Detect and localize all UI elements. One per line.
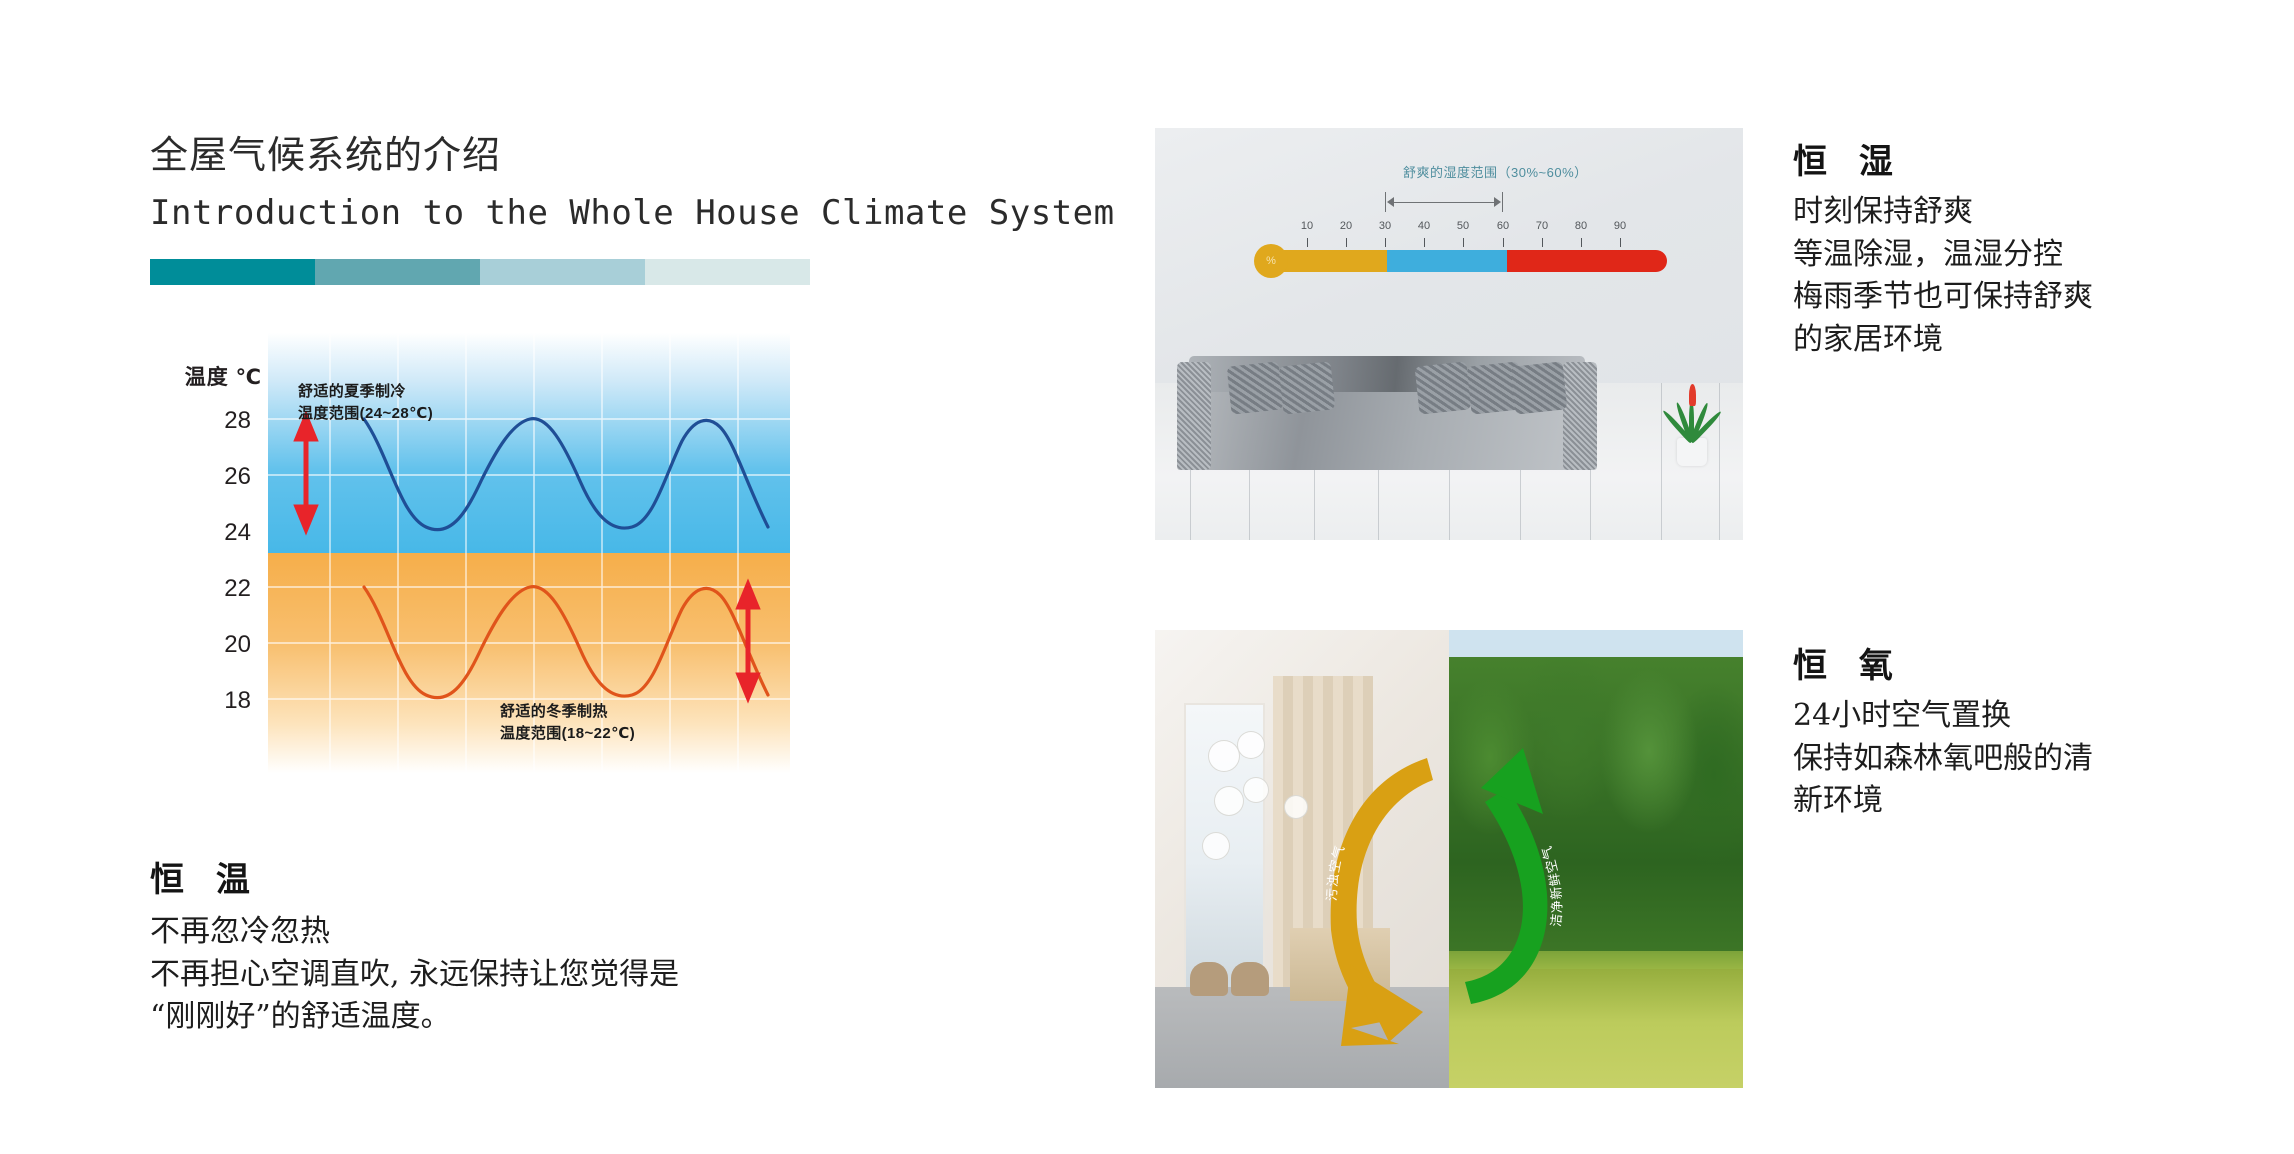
humidity-photo: 舒爽的湿度范围（30%~60%） 10 20 30 40 50 60 xyxy=(1155,128,1743,540)
y-tick-24: 24 xyxy=(171,519,251,547)
hengwen-heading: 恒 温 xyxy=(150,852,1050,901)
y-tick-18: 18 xyxy=(171,687,251,715)
sofa-cushion xyxy=(1279,361,1336,414)
hengshi-line-1: 时刻保持舒爽 xyxy=(1793,191,2263,234)
hengyang-line-1: 24小时空气置换 xyxy=(1793,695,2263,738)
hum-tick-label: 20 xyxy=(1340,220,1352,232)
summer-annotation-line1: 舒适的夏季制冷 xyxy=(298,381,433,403)
y-tick-28: 28 xyxy=(171,407,251,435)
chart-plot-area: 舒适的夏季制冷 温度范围(24~28℃) 舒适的冬季制热 温度范围(18~22℃… xyxy=(268,333,790,773)
left-column: 全屋气候系统的介绍 Introduction to the Whole Hous… xyxy=(150,130,1080,773)
section-hengyang: 恒 氧 24小时空气置换 保持如森林氧吧般的清 新环境 xyxy=(1793,638,2263,823)
hengwen-line-3: “刚刚好”的舒适温度。 xyxy=(150,996,1050,1039)
hengshi-line-4: 的家居环境 xyxy=(1793,319,2263,362)
hum-tick-label: 60 xyxy=(1497,220,1509,232)
humidity-bar xyxy=(1267,250,1667,272)
winter-annotation-line1: 舒适的冬季制热 xyxy=(500,701,635,723)
hum-tick-label: 40 xyxy=(1418,220,1430,232)
temperature-chart: 温度 ℃ 28 26 24 22 20 18 xyxy=(150,333,790,773)
page-title-en: Introduction to the Whole House Climate … xyxy=(150,193,1080,233)
humidity-tick-scale: 10 20 30 40 50 60 70 80 90 xyxy=(1267,220,1667,252)
sofa xyxy=(1177,348,1597,470)
swatch-3 xyxy=(480,259,645,285)
winter-heating-curve xyxy=(364,587,768,698)
hengyang-line-2: 保持如森林氧吧般的清 xyxy=(1793,738,2263,781)
plant-bloom xyxy=(1689,384,1696,406)
axis-title: 温度 ℃ xyxy=(154,361,262,391)
arrow-right-head xyxy=(1494,197,1501,207)
y-tick-20: 20 xyxy=(171,631,251,659)
humidity-range-label: 舒爽的湿度范围（30%~60%） xyxy=(1403,162,1588,181)
winter-range-arrow xyxy=(739,585,757,697)
sofa-cushion xyxy=(1227,361,1284,414)
winter-annotation: 舒适的冬季制热 温度范围(18~22℃) xyxy=(500,701,635,745)
sofa-arm-left xyxy=(1177,362,1211,470)
y-tick-26: 26 xyxy=(171,463,251,491)
percent-cap: % xyxy=(1254,244,1288,278)
sofa-cushion xyxy=(1511,361,1568,414)
page-title-cn: 全屋气候系统的介绍 xyxy=(150,130,1080,181)
potted-plant xyxy=(1663,374,1721,466)
polluted-air-arrow: 污浊空气 xyxy=(1324,758,1433,1046)
slide-root: 全屋气候系统的介绍 Introduction to the Whole Hous… xyxy=(0,0,2294,1154)
arrow-left-head xyxy=(1387,197,1394,207)
hum-tick-label: 80 xyxy=(1575,220,1587,232)
summer-range-arrow xyxy=(297,417,315,529)
summer-annotation: 舒适的夏季制冷 温度范围(24~28℃) xyxy=(298,381,433,425)
hengshi-heading: 恒 湿 xyxy=(1793,134,2263,183)
color-swatch-bar xyxy=(150,259,810,285)
hengwen-line-1: 不再忽冷忽热 xyxy=(150,911,1050,954)
summer-cooling-curve xyxy=(364,419,768,530)
hengyang-line-3: 新环境 xyxy=(1793,780,2263,823)
sofa-arm-right xyxy=(1563,362,1597,470)
y-tick-22: 22 xyxy=(171,575,251,603)
swatch-4 xyxy=(645,259,810,285)
hengwen-line-2: 不再担心空调直吹, 永远保持让您觉得是 xyxy=(150,954,1050,997)
sofa-cushion xyxy=(1415,361,1472,414)
humidity-gauge: 舒爽的湿度范围（30%~60%） 10 20 30 40 50 60 xyxy=(1267,162,1667,282)
oxygen-photo: 污浊空气 洁净新鲜空气 xyxy=(1155,630,1743,1088)
hum-tick-label: 10 xyxy=(1301,220,1313,232)
hum-tick-label: 90 xyxy=(1614,220,1626,232)
chart-y-axis: 温度 ℃ 28 26 24 22 20 18 xyxy=(150,333,265,773)
air-exchange-arrows: 污浊空气 洁净新鲜空气 xyxy=(1155,630,1743,1088)
comfort-range-marker xyxy=(1385,192,1503,214)
section-hengwen: 恒 温 不再忽冷忽热 不再担心空调直吹, 永远保持让您觉得是 “刚刚好”的舒适温… xyxy=(150,852,1050,1039)
hum-tick-label: 50 xyxy=(1457,220,1469,232)
section-hengshi: 恒 湿 时刻保持舒爽 等温除湿，温湿分控 梅雨季节也可保持舒爽 的家居环境 xyxy=(1793,134,2263,361)
hum-tick-label: 30 xyxy=(1379,220,1391,232)
hengyang-heading: 恒 氧 xyxy=(1793,638,2263,687)
winter-annotation-line2: 温度范围(18~22℃) xyxy=(500,723,635,745)
fresh-air-arrow: 洁净新鲜空气 xyxy=(1465,748,1564,1004)
hengshi-line-2: 等温除湿，温湿分控 xyxy=(1793,234,2263,277)
summer-annotation-line2: 温度范围(24~28℃) xyxy=(298,403,433,425)
hengshi-line-3: 梅雨季节也可保持舒爽 xyxy=(1793,276,2263,319)
hum-tick-label: 70 xyxy=(1536,220,1548,232)
swatch-1 xyxy=(150,259,315,285)
swatch-2 xyxy=(315,259,480,285)
